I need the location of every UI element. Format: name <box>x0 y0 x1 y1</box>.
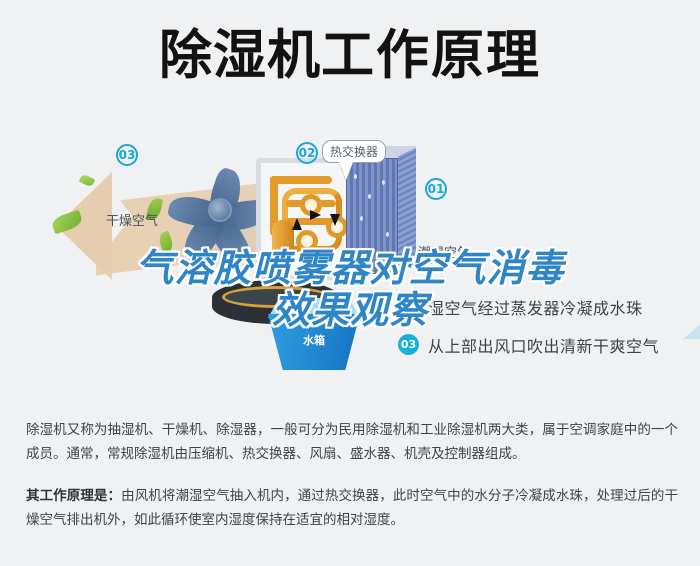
page-title: 除湿机工作原理 <box>0 26 700 86</box>
badge-02-heat-exchanger: 02 <box>296 142 318 164</box>
label-humid-air: 潮湿空气 <box>418 242 470 261</box>
infographic-page: 除湿机工作原理 <box>0 0 700 566</box>
dehumidifier-diagram: 水箱 03 干燥空气 02 热交换器 01 潮湿空气 02 湿空气经过蒸发器冷凝… <box>0 120 700 405</box>
page-title-part2: 工作原理 <box>321 25 541 86</box>
article-body: 除湿机又称为抽湿机、干燥机、除湿器，一般可分为民用除湿机和工业除湿机两大类，属于… <box>26 418 678 532</box>
badge-01-humid-air: 01 <box>425 178 447 200</box>
page-title-part1: 除湿机 <box>159 25 321 86</box>
paragraph-2-lead: 其工作原理是： <box>26 488 121 504</box>
badge-03-dry-air: 03 <box>116 144 138 166</box>
water-tank-icon: 水箱 <box>268 298 360 370</box>
step-item: 03 从上部出风口吹出清新干爽空气 <box>398 328 698 366</box>
step-list: 02 湿空气经过蒸发器冷凝成水珠 03 从上部出风口吹出清新干爽空气 <box>398 290 698 366</box>
paragraph-1: 除湿机又称为抽湿机、干燥机、除湿器，一般可分为民用除湿机和工业除湿机两大类，属于… <box>26 418 678 466</box>
label-dry-air: 干燥空气 <box>106 210 158 229</box>
step-text: 湿空气经过蒸发器冷凝成水珠 <box>428 295 643 319</box>
paragraph-2: 其工作原理是：由风机将潮湿空气抽入机内，通过热交换器，此时空气中的水分子冷凝成水… <box>26 484 678 532</box>
paragraph-2-text: 由风机将潮湿空气抽入机内，通过热交换器，此时空气中的水分子冷凝成水珠，处理过后的… <box>26 488 678 528</box>
step-text: 从上部出风口吹出清新干爽空气 <box>428 333 659 357</box>
step-number: 03 <box>398 334 419 355</box>
heat-exchanger-icon <box>346 150 418 282</box>
step-item: 02 湿空气经过蒸发器冷凝成水珠 <box>398 290 698 328</box>
water-tank-label: 水箱 <box>268 332 360 348</box>
label-heat-exchanger: 热交换器 <box>322 140 386 163</box>
step-number: 02 <box>398 296 419 317</box>
